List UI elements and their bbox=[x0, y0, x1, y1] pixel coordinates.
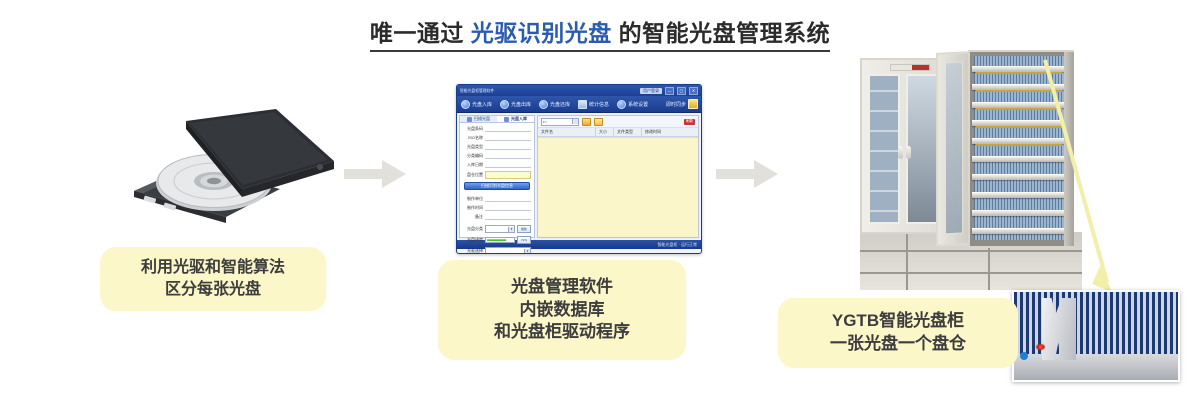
file-panel-toolbar[interactable]: F:\ 刷新 bbox=[538, 116, 698, 128]
window-titlebar: 智能光盘柜管理软件 用户登录 — ▢ ✕ bbox=[457, 85, 701, 96]
file-refresh-button[interactable]: 刷新 bbox=[684, 119, 695, 125]
field-disc-type[interactable]: 光盘类型 bbox=[463, 144, 531, 150]
cabinet-photo bbox=[860, 50, 1082, 290]
disc-return-icon bbox=[539, 100, 548, 109]
field-disc-category-label: 光盘分类 bbox=[463, 226, 483, 232]
app-body: 扫描光盘 光盘入库 光盘条码 ISO名称 bbox=[457, 113, 701, 240]
caption-software-text: 光盘管理软件 内嵌数据库 和光盘柜驱动程序 bbox=[494, 276, 630, 345]
caption-drive-text: 利用光驱和智能算法 区分每张光盘 bbox=[141, 257, 285, 300]
field-make-time-input[interactable] bbox=[485, 205, 531, 211]
col-size: 大小 bbox=[596, 128, 614, 136]
toolbar-button-settings[interactable]: 系统设置 bbox=[613, 96, 652, 112]
maximize-button[interactable]: ▢ bbox=[677, 87, 686, 95]
field-disc-category[interactable]: 光盘分类 ▾ 刷新 bbox=[463, 225, 531, 233]
field-in-date-label: 入库日期 bbox=[463, 162, 483, 168]
field-barcode-label: 光盘条码 bbox=[463, 126, 483, 132]
cabinet-side-panel bbox=[1064, 52, 1074, 246]
flow-arrow-drive-to-software bbox=[344, 160, 406, 188]
folder-open-icon[interactable] bbox=[594, 118, 603, 126]
file-refresh-group[interactable]: 刷新 bbox=[684, 119, 695, 125]
field-group-secondary: 制作单位 制作时间 备注 光盘分类 ▾ bbox=[460, 193, 534, 254]
file-list[interactable] bbox=[538, 137, 698, 237]
tab-disc-in[interactable]: 光盘入库 bbox=[497, 116, 534, 122]
optical-drive-illustration bbox=[130, 105, 340, 225]
field-iso-name[interactable]: ISO名称 bbox=[463, 135, 531, 141]
toolbar-label-1: 光盘出库 bbox=[511, 101, 531, 108]
col-modified: 修改时间 bbox=[642, 128, 676, 136]
file-table-header: 文件名 大小 文件类型 修改时间 bbox=[538, 128, 698, 137]
minimize-button[interactable]: — bbox=[665, 87, 674, 95]
field-barcode-input[interactable] bbox=[485, 126, 531, 132]
toolbar-button-disc-in[interactable]: 光盘入库 bbox=[457, 96, 496, 112]
disc-category-select[interactable]: ▾ bbox=[485, 225, 515, 233]
app-toolbar[interactable]: 光盘入库 光盘出库 光盘还库 统计信息 系统设置 即时同步 bbox=[457, 96, 701, 113]
title-lead: 唯一通过 bbox=[370, 20, 464, 46]
caption-cabinet: YGTB智能光盘柜 一张光盘一个盘仓 bbox=[778, 298, 1018, 368]
toolbar-label-4: 系统设置 bbox=[628, 101, 648, 108]
form-tabs[interactable]: 扫描光盘 光盘入库 bbox=[460, 116, 534, 123]
field-maker[interactable]: 制作单位 bbox=[463, 196, 531, 202]
disc-out-icon bbox=[500, 100, 509, 109]
field-maker-label: 制作单位 bbox=[463, 196, 483, 202]
toolbar-label-0: 光盘入库 bbox=[472, 101, 492, 108]
close-button[interactable]: ✕ bbox=[689, 87, 698, 95]
field-make-time-label: 制作时间 bbox=[463, 205, 483, 211]
caption-cabinet-text: YGTB智能光盘柜 一张光盘一个盘仓 bbox=[830, 310, 966, 356]
blue-indicator-dot bbox=[1020, 352, 1028, 360]
sync-label: 即时同步 bbox=[666, 101, 686, 108]
form-panel[interactable]: 扫描光盘 光盘入库 光盘条码 ISO名称 bbox=[459, 115, 535, 238]
gear-icon bbox=[617, 100, 626, 109]
toolbar-button-stats[interactable]: 统计信息 bbox=[574, 96, 613, 112]
field-make-time[interactable]: 制作时间 bbox=[463, 205, 531, 211]
progress-bar bbox=[485, 237, 515, 243]
field-iso-name-label: ISO名称 bbox=[463, 135, 483, 141]
disc-in-icon bbox=[461, 100, 470, 109]
field-group-primary: 光盘条码 ISO名称 光盘类型 分类编码 bbox=[460, 123, 534, 179]
toolbar-label-3: 统计信息 bbox=[589, 101, 609, 108]
title-highlight: 光驱识别光盘 bbox=[471, 20, 612, 46]
field-remark-input[interactable] bbox=[485, 214, 531, 220]
path-value: F:\ bbox=[542, 120, 547, 124]
scan-icon bbox=[467, 117, 472, 122]
field-progress-label: 光盘进度 bbox=[463, 237, 483, 243]
field-drive-select[interactable]: 光驱选择 ▾ bbox=[463, 247, 531, 254]
field-remark[interactable]: 备注 bbox=[463, 214, 531, 220]
field-disc-type-label: 光盘类型 bbox=[463, 144, 483, 150]
login-badge[interactable]: 用户登录 bbox=[640, 88, 662, 94]
disc-slot-detail bbox=[1012, 290, 1180, 382]
toolbar-label-2: 光盘还库 bbox=[550, 101, 570, 108]
toolbar-button-disc-out[interactable]: 光盘出库 bbox=[496, 96, 535, 112]
cabinet-disc-racks bbox=[968, 50, 1074, 248]
field-maker-input[interactable] bbox=[485, 196, 531, 202]
caption-software: 光盘管理软件 内嵌数据库 和光盘柜驱动程序 bbox=[438, 260, 686, 360]
field-in-date[interactable]: 入库日期 bbox=[463, 162, 531, 168]
field-category-code-input[interactable] bbox=[485, 153, 531, 159]
detail-base-rail bbox=[1014, 354, 1178, 380]
toolbar-button-disc-return[interactable]: 光盘还库 bbox=[535, 96, 574, 112]
drive-select[interactable]: ▾ bbox=[485, 247, 531, 254]
flow-arrow-software-to-cabinet bbox=[716, 160, 778, 188]
path-select[interactable]: F:\ bbox=[541, 118, 579, 126]
field-remark-label: 备注 bbox=[463, 214, 483, 220]
file-panel[interactable]: F:\ 刷新 文件名 大小 文件类型 修改时间 bbox=[537, 115, 699, 238]
field-slot-position[interactable]: 盘仓位置 bbox=[463, 171, 531, 179]
field-progress: 光盘进度 72% bbox=[463, 236, 531, 244]
stats-icon bbox=[578, 100, 587, 109]
toolbar-button-sync[interactable]: 即时同步 bbox=[666, 99, 701, 109]
col-filename: 文件名 bbox=[538, 128, 596, 136]
field-category-code-label: 分类编码 bbox=[463, 153, 483, 159]
refresh-button[interactable]: 刷新 bbox=[517, 225, 531, 233]
scan-disc-button[interactable]: 扫描识别光盘信息 bbox=[464, 182, 530, 190]
field-iso-name-input[interactable] bbox=[485, 135, 531, 141]
sync-flag-icon bbox=[688, 99, 698, 109]
door-glass-pane bbox=[945, 61, 963, 234]
disc-in-tab-icon bbox=[504, 117, 509, 122]
field-barcode[interactable]: 光盘条码 bbox=[463, 126, 531, 132]
red-led-indicator bbox=[1036, 344, 1045, 350]
field-in-date-input[interactable] bbox=[485, 162, 531, 168]
status-text: 智能光盘柜 · 运行正常 bbox=[657, 242, 697, 248]
col-filetype: 文件类型 bbox=[614, 128, 642, 136]
chevron-down-icon-2: ▾ bbox=[524, 249, 530, 254]
tab-scan-disc[interactable]: 扫描光盘 bbox=[460, 116, 497, 122]
page-title: 唯一通过 光驱识别光盘 的智能光盘管理系统 bbox=[0, 14, 1200, 52]
slide-canvas: 唯一通过 光驱识别光盘 的智能光盘管理系统 bbox=[0, 0, 1200, 400]
cabinet-label bbox=[890, 64, 930, 71]
field-slot-position-label: 盘仓位置 bbox=[463, 172, 483, 178]
caption-drive: 利用光驱和智能算法 区分每张光盘 bbox=[100, 247, 326, 311]
tab-label-1: 光盘入库 bbox=[511, 116, 527, 122]
field-disc-type-input[interactable] bbox=[485, 144, 531, 150]
software-window[interactable]: 智能光盘柜管理软件 用户登录 — ▢ ✕ 光盘入库 光盘出库 光盘还库 统计信息 bbox=[456, 84, 702, 254]
field-slot-position-input[interactable] bbox=[485, 171, 531, 179]
chevron-down-icon: ▾ bbox=[508, 227, 514, 232]
adjacent-cabinet bbox=[860, 58, 946, 234]
folder-icon[interactable] bbox=[582, 118, 591, 126]
field-drive-select-label: 光驱选择 bbox=[463, 248, 483, 254]
path-chevron-icon bbox=[572, 119, 578, 124]
progress-value: 72% bbox=[517, 236, 531, 244]
title-tail: 的智能光盘管理系统 bbox=[619, 20, 831, 46]
tab-label-0: 扫描光盘 bbox=[474, 116, 490, 122]
window-title: 智能光盘柜管理软件 bbox=[460, 88, 494, 94]
field-category-code[interactable]: 分类编码 bbox=[463, 153, 531, 159]
cabinet-open-door bbox=[936, 51, 970, 247]
